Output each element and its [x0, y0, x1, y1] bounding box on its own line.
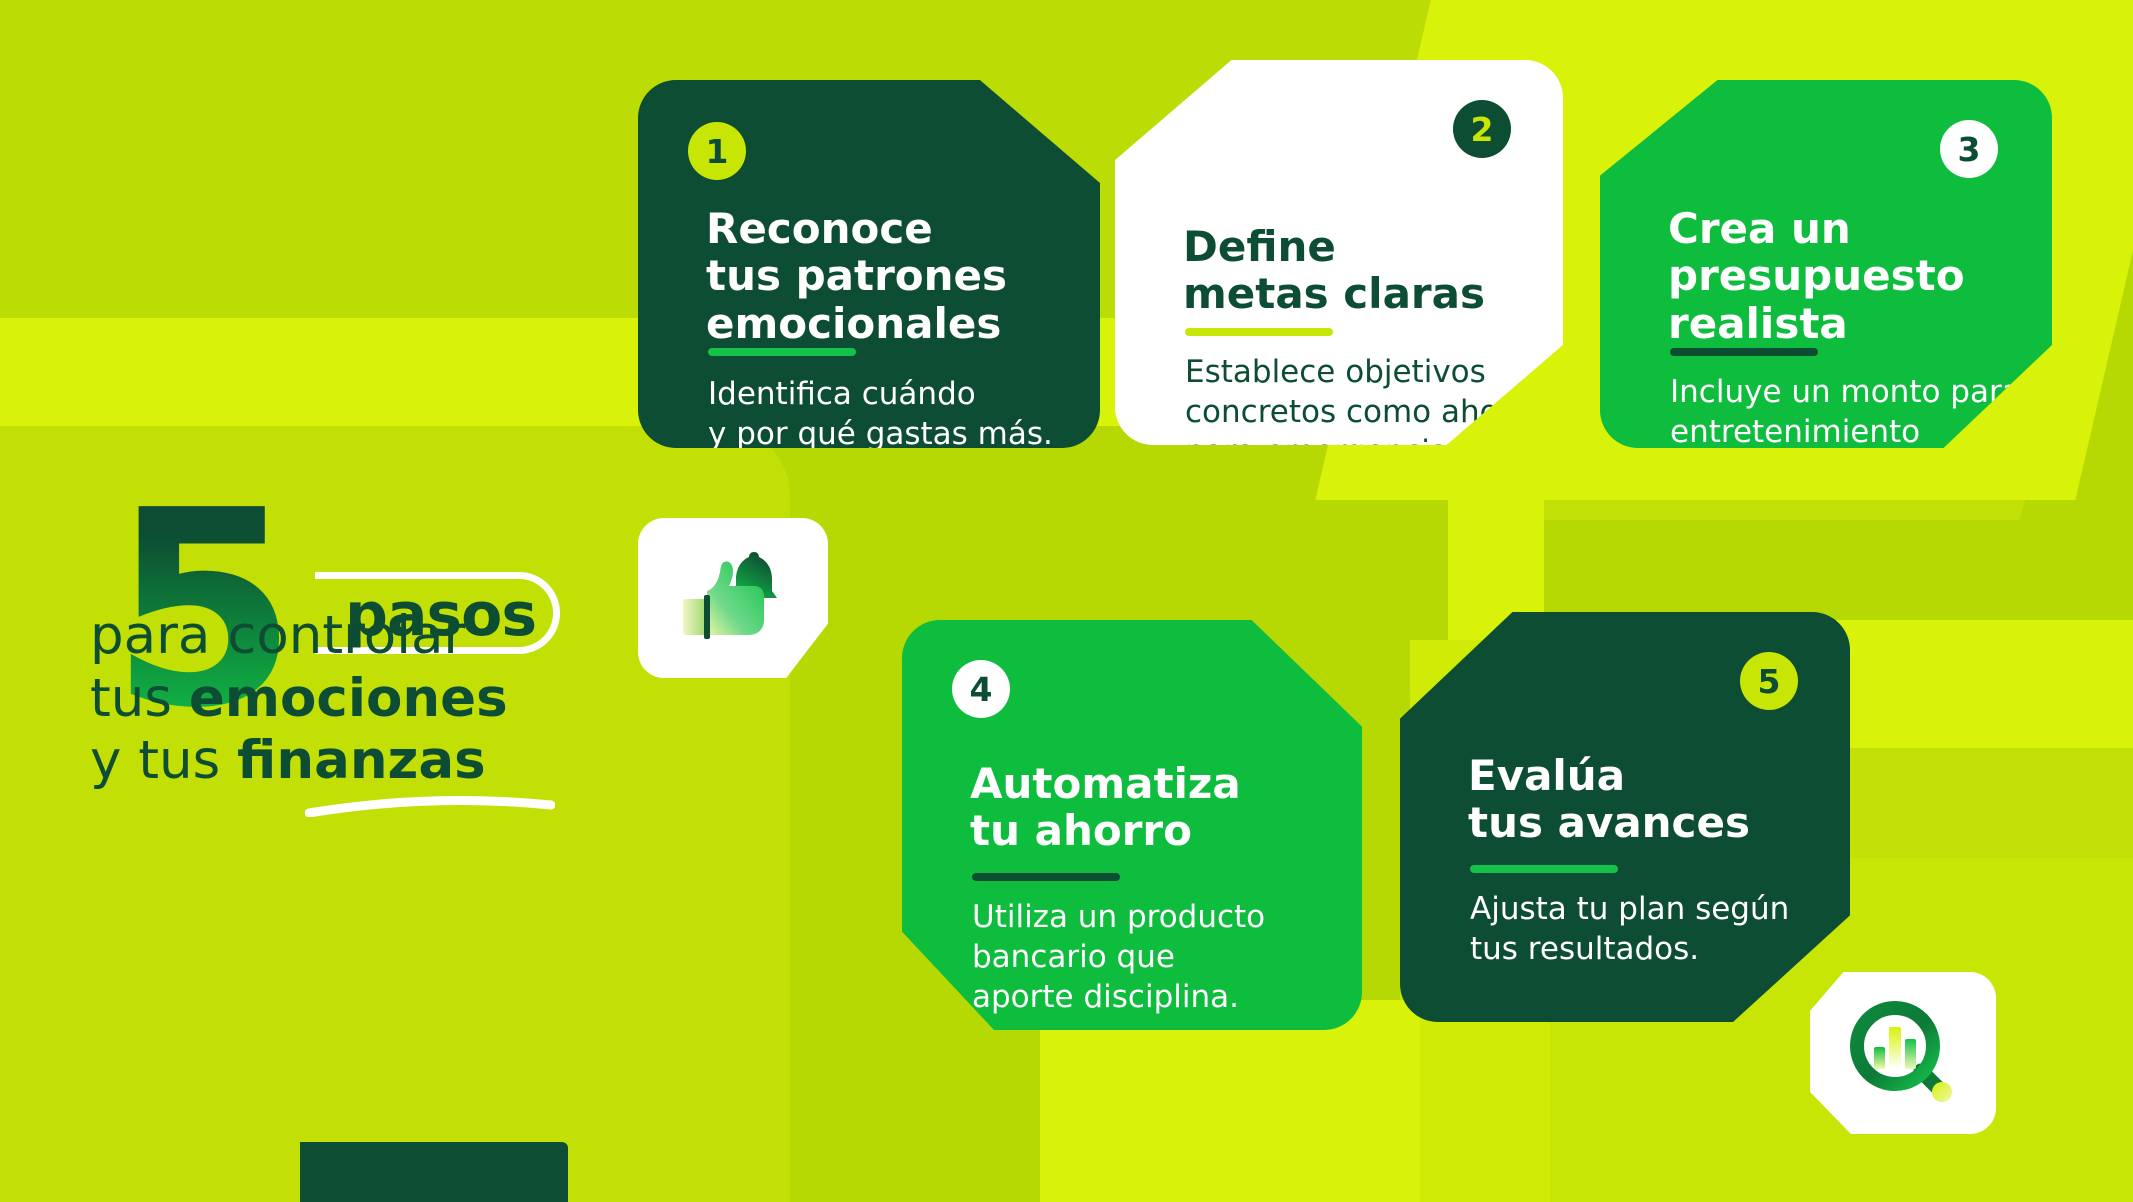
- step-number-badge-5: 5: [1740, 652, 1798, 710]
- thumbs-up-bell-icon: [671, 543, 796, 653]
- magnifier-bar-chart-icon-badge: [1810, 972, 1996, 1134]
- step-title-4: Automatiza tu ahorro: [970, 760, 1241, 855]
- step-title-2: Define metas claras: [1183, 223, 1485, 318]
- step-card-2-inner: 2 Define metas claras Establece objetivo…: [1115, 60, 1563, 445]
- step-card-3-inner: 3 Crea un presupuesto realista Incluye u…: [1600, 80, 2052, 448]
- headline-line2-thin: tus: [90, 668, 189, 729]
- headline-line2-bold: emociones: [189, 668, 508, 729]
- step-card-3[interactable]: 3 Crea un presupuesto realista Incluye u…: [1600, 80, 2052, 448]
- step-accent-rule-3: [1670, 348, 1818, 356]
- headline-subtitle: para controlar tus emociones y tus finan…: [90, 605, 710, 793]
- headline-line3-thin: y tus: [90, 730, 237, 791]
- step-number-badge-4: 4: [952, 660, 1010, 718]
- step-number-badge-3: 3: [1940, 120, 1998, 178]
- headline-underline-swoosh: [305, 795, 555, 817]
- step-accent-rule-2: [1185, 328, 1333, 336]
- bg-shape-dark-chip: [300, 1142, 568, 1202]
- step-body-4: Utiliza un producto bancario que aporte …: [972, 898, 1265, 1018]
- magnifier-bar-chart-icon: [1843, 997, 1963, 1109]
- headline-subtitle-line-3: y tus finanzas: [90, 730, 710, 793]
- step-card-1-inner: 1 Reconoce tus patrones emocionales Iden…: [638, 80, 1100, 448]
- step-title-3: Crea un presupuesto realista: [1668, 205, 1965, 347]
- bg-shape-lower-center: [1040, 1000, 1420, 1202]
- headline-subtitle-line-1: para controlar: [90, 605, 710, 668]
- step-number-badge-2: 2: [1453, 100, 1511, 158]
- headline-block: 5 pasos para controlar tus emociones y t…: [110, 500, 670, 730]
- step-card-5-inner: 5 Evalúa tus avances Ajusta tu plan segú…: [1400, 612, 1850, 1022]
- step-card-1[interactable]: 1 Reconoce tus patrones emocionales Iden…: [638, 80, 1100, 448]
- step-title-5: Evalúa tus avances: [1468, 752, 1750, 847]
- step-body-1: Identifica cuándo y por qué gastas más.: [708, 375, 1053, 455]
- step-accent-rule-1: [708, 348, 856, 356]
- step-accent-rule-5: [1470, 865, 1618, 873]
- step-card-5[interactable]: 5 Evalúa tus avances Ajusta tu plan segú…: [1400, 612, 1850, 1022]
- infographic-canvas: 5 pasos para controlar tus emociones y t…: [0, 0, 2133, 1202]
- step-card-4[interactable]: 4 Automatiza tu ahorro Utiliza un produc…: [902, 620, 1362, 1030]
- step-body-5: Ajusta tu plan según tus resultados.: [1470, 890, 1789, 970]
- headline-line3-bold: finanzas: [237, 730, 486, 791]
- step-card-2[interactable]: 2 Define metas claras Establece objetivo…: [1115, 60, 1563, 445]
- step-accent-rule-4: [972, 873, 1120, 881]
- thumbs-up-bell-icon-badge: [638, 518, 828, 678]
- step-card-4-inner: 4 Automatiza tu ahorro Utiliza un produc…: [902, 620, 1362, 1030]
- headline-subtitle-line-2: tus emociones: [90, 668, 710, 731]
- step-number-badge-1: 1: [688, 122, 746, 180]
- step-title-1: Reconoce tus patrones emocionales: [706, 205, 1007, 347]
